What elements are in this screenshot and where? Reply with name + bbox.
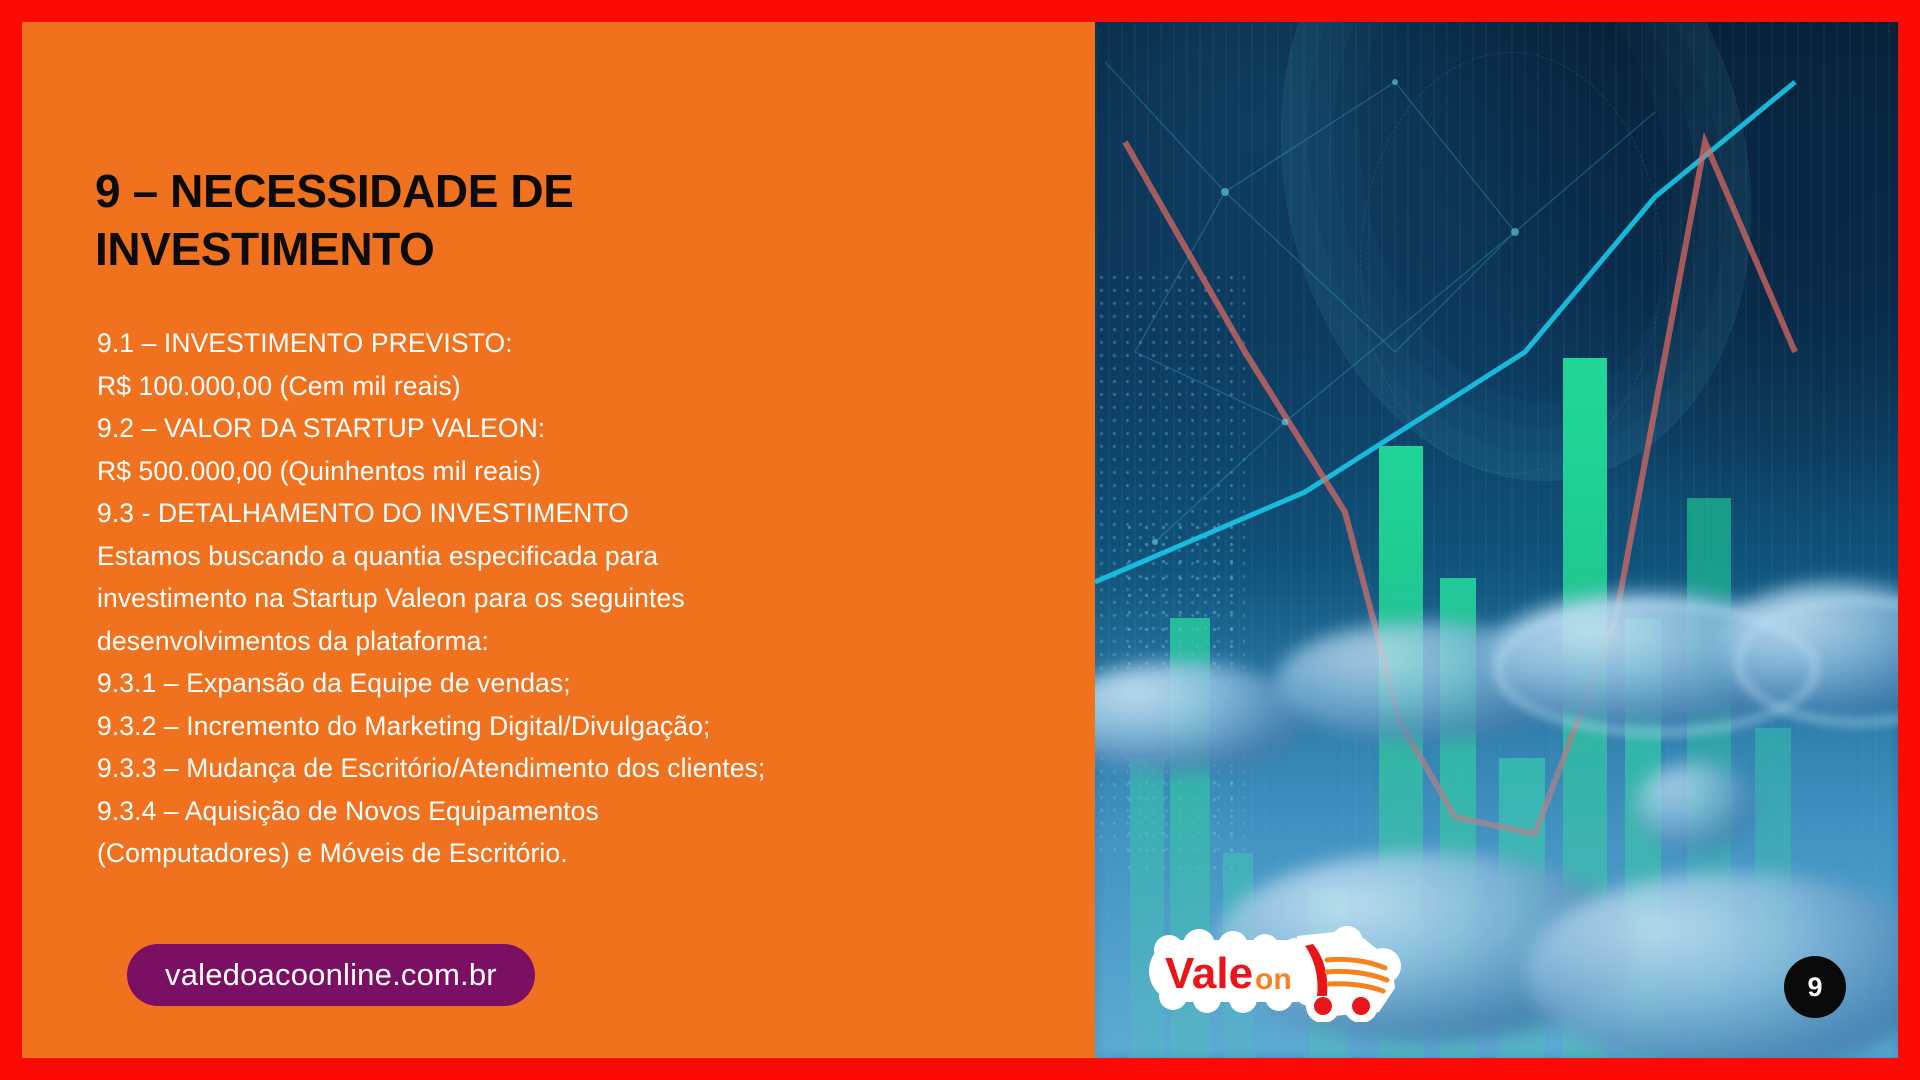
financial-photo-panel: Vale on 9: [1095, 22, 1898, 1058]
valeon-logo-graphic: Vale on: [1147, 926, 1407, 1022]
body-line: R$ 500.000,00 (Quinhentos mil reais): [97, 450, 1057, 493]
trend-line-rising: [1095, 82, 1795, 582]
slide-content: 9 – NECESSIDADE DE INVESTIMENTO 9.1 – IN…: [22, 22, 1898, 1058]
body-line: investimento na Startup Valeon para os s…: [97, 577, 1057, 620]
logo-text-primary: Vale: [1165, 949, 1253, 998]
page-number-badge: 9: [1784, 956, 1846, 1018]
body-line: 9.2 – VALOR DA STARTUP VALEON:: [97, 407, 1057, 450]
body-line: desenvolvimentos da plataforma:: [97, 620, 1057, 663]
body-line: 9.3.1 – Expansão da Equipe de vendas;: [97, 662, 1057, 705]
website-url-label: valedoacoonline.com.br: [165, 957, 497, 993]
body-line: 9.3.4 – Aquisição de Novos Equipamentos: [97, 790, 1057, 833]
page-title: 9 – NECESSIDADE DE INVESTIMENTO: [95, 163, 795, 279]
body-line: (Computadores) e Móveis de Escritório.: [97, 832, 1057, 875]
left-content-panel: 9 – NECESSIDADE DE INVESTIMENTO 9.1 – IN…: [22, 22, 1095, 1058]
body-line: Estamos buscando a quantia especificada …: [97, 535, 1057, 578]
network-lines: [1105, 62, 1655, 542]
logo-text-secondary: on: [1255, 963, 1292, 996]
body-line: 9.1 – INVESTIMENTO PREVISTO:: [97, 322, 1057, 365]
body-line: 9.3.2 – Incremento do Marketing Digital/…: [97, 705, 1057, 748]
website-url-button[interactable]: valedoacoonline.com.br: [127, 944, 535, 1006]
body-line: R$ 100.000,00 (Cem mil reais): [97, 365, 1057, 408]
body-line: 9.3.3 – Mudança de Escritório/Atendiment…: [97, 747, 1057, 790]
valeon-logo: Vale on: [1147, 926, 1407, 1022]
body-line: 9.3 - DETALHAMENTO DO INVESTIMENTO: [97, 492, 1057, 535]
coin: [1635, 762, 1755, 852]
page-number-label: 9: [1807, 972, 1822, 1003]
body-text-block: 9.1 – INVESTIMENTO PREVISTO: R$ 100.000,…: [97, 322, 1057, 875]
slide-frame: 9 – NECESSIDADE DE INVESTIMENTO 9.1 – IN…: [0, 0, 1920, 1080]
